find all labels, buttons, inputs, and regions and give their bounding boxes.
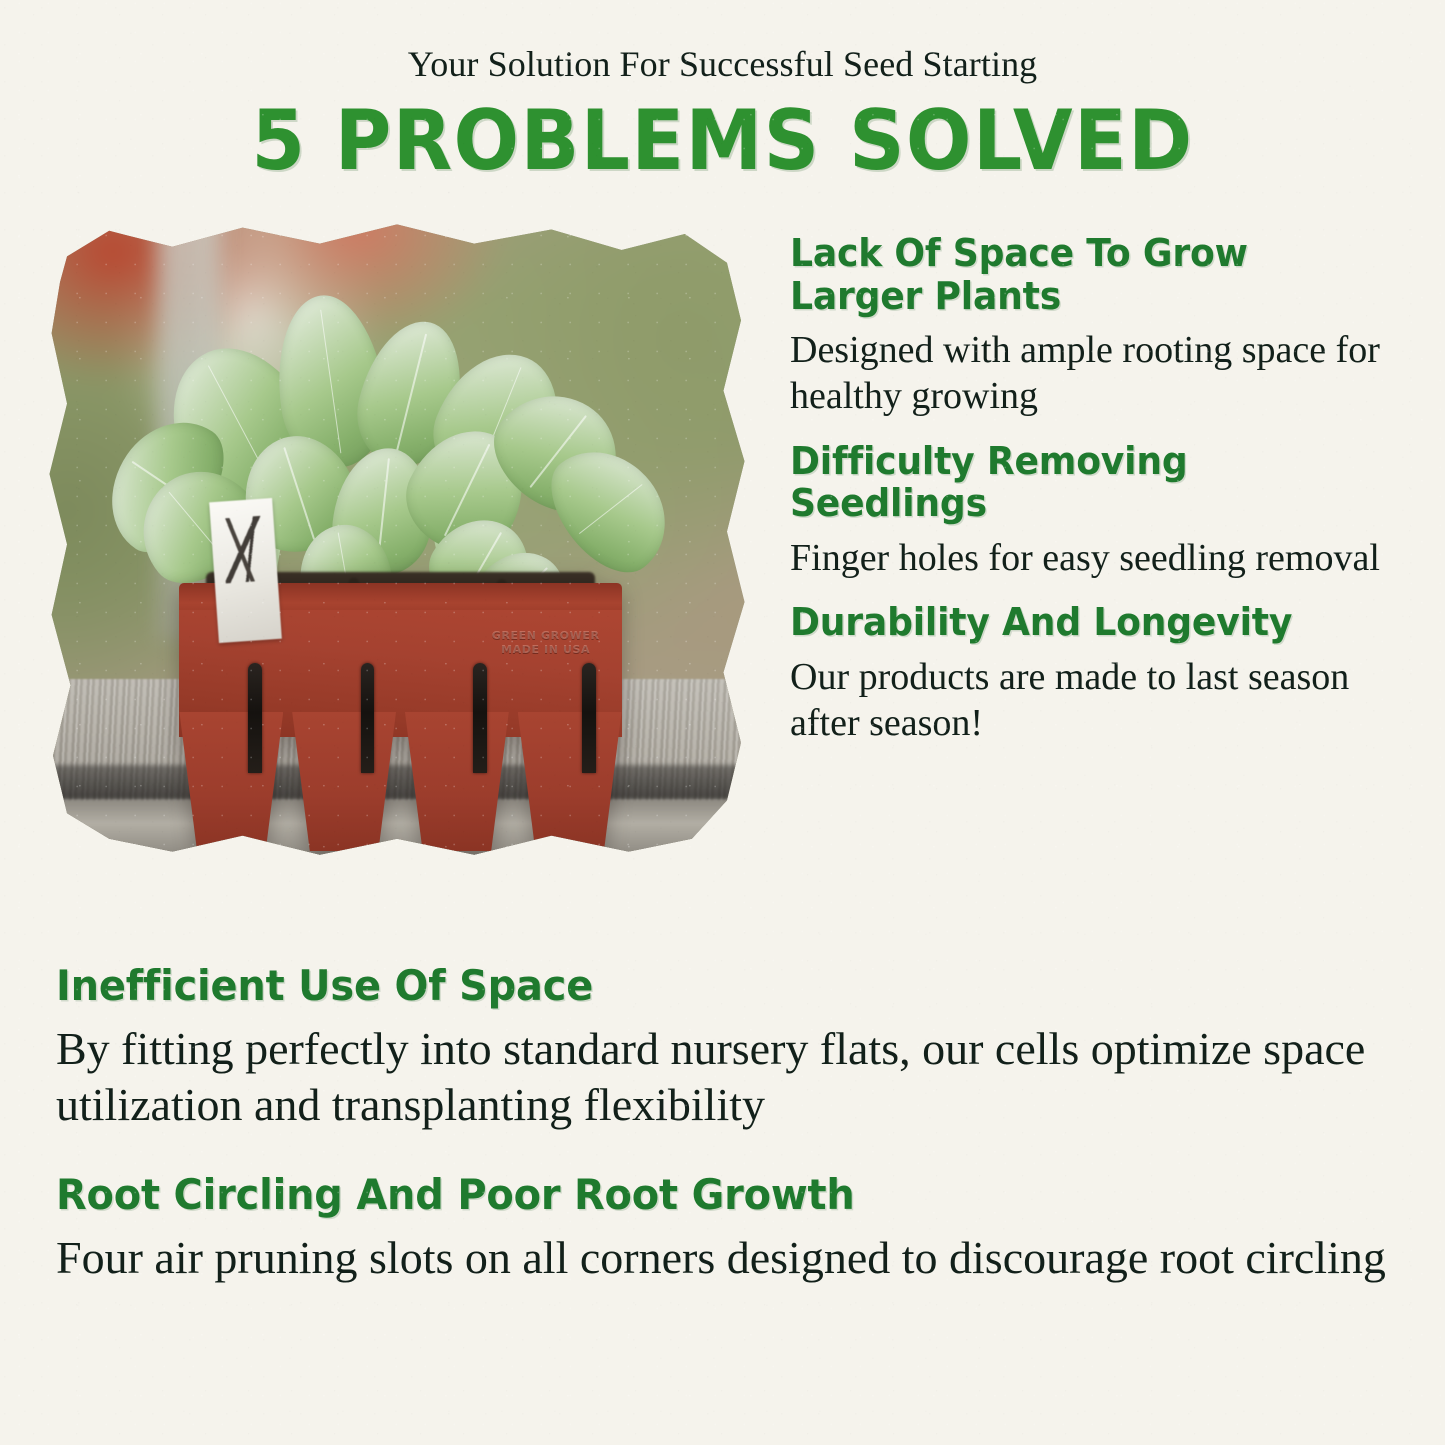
air-pruning-slot	[248, 663, 262, 773]
product-photo: GREEN GROWER MADE IN USA	[46, 218, 748, 858]
benefit-heading: Durability And Longevity	[790, 601, 1360, 644]
tray-cell	[518, 712, 622, 851]
benefit-body: Designed with ample rooting space for he…	[790, 327, 1390, 420]
benefit-block: Lack Of Space To Grow Larger Plants Desi…	[790, 232, 1390, 420]
benefits-bottom-section: Inefficient Use Of Space By fitting perf…	[56, 962, 1386, 1286]
header: Your Solution For Successful Seed Starti…	[0, 0, 1445, 184]
tray-cell	[179, 712, 283, 851]
benefit-heading: Inefficient Use Of Space	[56, 962, 1320, 1009]
benefit-body: Finger holes for easy seedling removal	[790, 535, 1390, 581]
benefit-block: Durability And Longevity Our products ar…	[790, 601, 1390, 746]
product-photo-image: GREEN GROWER MADE IN USA	[46, 218, 748, 858]
eyebrow-tagline: Your Solution For Successful Seed Starti…	[0, 44, 1445, 85]
tray-embossed-brand: GREEN GROWER MADE IN USA	[492, 629, 600, 657]
plant-label-tag	[210, 498, 283, 643]
air-pruning-slot	[582, 663, 596, 773]
page-title: 5 PROBLEMS SOLVED	[51, 99, 1395, 184]
benefit-heading: Root Circling And Poor Root Growth	[56, 1171, 1320, 1218]
benefits-right-column: Lack Of Space To Grow Larger Plants Desi…	[790, 232, 1390, 747]
air-pruning-slot	[473, 663, 487, 773]
air-pruning-slot	[361, 663, 375, 773]
wooden-bench-edge	[46, 800, 748, 858]
benefit-body: Our products are made to last season aft…	[790, 654, 1390, 747]
benefit-heading: Lack Of Space To Grow Larger Plants	[790, 232, 1360, 317]
benefit-body: Four air pruning slots on all corners de…	[56, 1230, 1386, 1286]
benefit-block: Root Circling And Poor Root Growth Four …	[56, 1171, 1386, 1286]
benefit-body: By fitting perfectly into standard nurse…	[56, 1021, 1386, 1133]
benefit-block: Difficulty Removing Seedlings Finger hol…	[790, 440, 1390, 581]
benefit-heading: Difficulty Removing Seedlings	[790, 440, 1360, 525]
tray-cell	[405, 712, 509, 851]
benefit-block: Inefficient Use Of Space By fitting perf…	[56, 962, 1386, 1133]
plant-label-handwriting	[222, 515, 267, 582]
tray-cell	[292, 712, 396, 851]
infographic-page: Your Solution For Successful Seed Starti…	[0, 0, 1445, 1445]
